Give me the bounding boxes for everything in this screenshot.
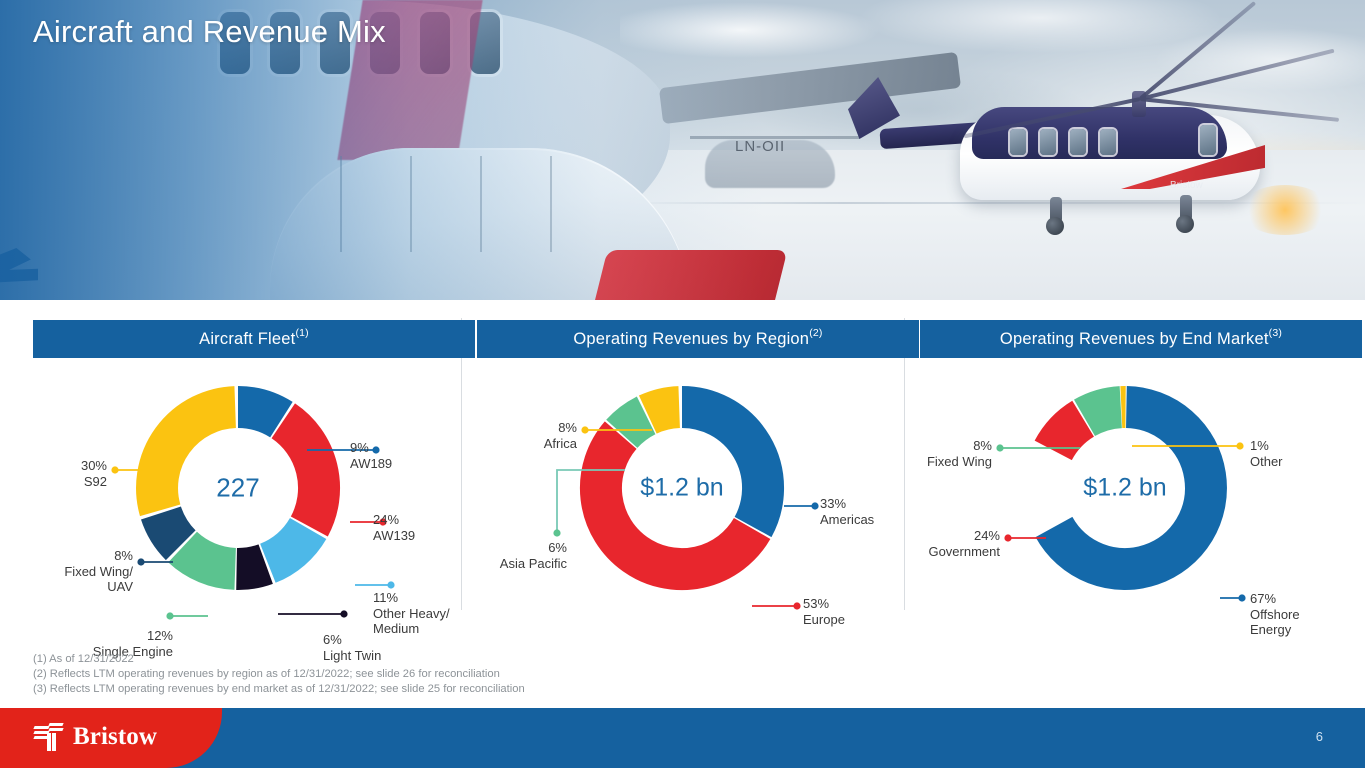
donut-center-value-end-market: $1.2 bn <box>1083 474 1166 503</box>
callout-pct: 67% <box>1250 591 1276 606</box>
panel-title-revenues-by-region: Operating Revenues by Region(2) <box>477 320 919 358</box>
callout-name: Africa <box>544 436 577 451</box>
footnote-marker: (3) <box>1269 327 1282 339</box>
callout-pct: 1% <box>1250 438 1269 453</box>
slice-government <box>1053 419 1083 451</box>
footnote-2: (2) Reflects LTM operating revenues by r… <box>33 667 525 682</box>
page-number: 6 <box>1316 729 1323 744</box>
callout-pct: 11% <box>373 590 398 605</box>
donut-center-value-region: $1.2 bn <box>640 474 723 503</box>
callout-name: Fixed Wing/ <box>64 564 133 579</box>
callout-name: Asia Pacific <box>500 556 567 571</box>
slice-aw189 <box>238 407 281 420</box>
callout-name2: UAV <box>107 579 133 594</box>
callout-pct: 24% <box>373 512 399 527</box>
callout-name: Government <box>928 544 1000 559</box>
slice-africa <box>648 407 679 415</box>
callout-other: 1% Other <box>1250 438 1283 469</box>
callout-name: AW139 <box>373 528 415 543</box>
callout-pct: 53% <box>803 596 829 611</box>
callout-aw139: 24% AW139 <box>373 512 415 543</box>
callout-fixed-wing-uav: 8% Fixed Wing/ UAV <box>0 548 133 595</box>
callout-name: Fixed Wing <box>927 454 992 469</box>
callout-name: Europe <box>803 612 845 627</box>
panel-title-text: Operating Revenues by Region <box>573 330 809 349</box>
donut-revenues-by-end-market: $1.2 bn 1% Other 8% Fixed Wing 24% Gover… <box>920 358 1362 620</box>
panel-revenues-by-end-market: Operating Revenues by End Market(3) <box>920 320 1362 620</box>
callout-s92: 30% S92 <box>11 458 107 489</box>
page-title: Aircraft and Revenue Mix <box>33 14 386 50</box>
footer-bar: Bristow 6 <box>0 708 1365 768</box>
footnote-1: (1) As of 12/31/2022 <box>33 652 525 667</box>
panel-aircraft-fleet: Aircraft Fleet(1) <box>33 320 475 620</box>
donut-aircraft-fleet: 227 9% AW189 24% AW139 11% Other Heavy/ … <box>33 358 475 620</box>
callout-pct: 9% <box>350 440 369 455</box>
callout-offshore-energy: 67% Offshore Energy <box>1250 591 1300 638</box>
slice-asia-pacific <box>622 415 646 433</box>
footnotes: (1) As of 12/31/2022 (2) Reflects LTM op… <box>33 652 525 698</box>
donut-revenues-by-region: $1.2 bn 33% Americas 53% Europe 6% Asia … <box>477 358 919 620</box>
slice-single-engine <box>183 547 236 569</box>
callout-name: Other <box>1250 454 1283 469</box>
callout-name: AW189 <box>350 456 392 471</box>
donut-center-value-fleet: 227 <box>216 473 259 504</box>
footnote-3: (3) Reflects LTM operating revenues by e… <box>33 682 525 697</box>
callout-pct: 8% <box>973 438 992 453</box>
slice-aw139 <box>283 421 319 527</box>
panel-title-text: Operating Revenues by End Market <box>1000 330 1269 349</box>
callout-pct: 6% <box>548 540 567 555</box>
callout-europe: 53% Europe <box>803 596 845 627</box>
callout-pct: 8% <box>558 420 577 435</box>
slice-americas <box>682 407 763 527</box>
callout-government: 24% Government <box>870 528 1000 559</box>
panel-title-revenues-by-end-market: Operating Revenues by End Market(3) <box>920 320 1362 358</box>
charts-row: Aircraft Fleet(1) <box>0 300 1365 630</box>
callout-pct: 12% <box>147 628 173 643</box>
callout-name: Offshore <box>1250 607 1300 622</box>
panel-revenues-by-region: Operating Revenues by Region(2) <box>477 320 919 620</box>
callout-name2: Energy <box>1250 622 1291 637</box>
callout-americas: 33% Americas <box>820 496 874 527</box>
callout-pct: 30% <box>81 458 107 473</box>
callout-pct: 6% <box>323 632 342 647</box>
panel-title-text: Aircraft Fleet <box>199 330 295 349</box>
callout-name: Other Heavy/ <box>373 606 450 621</box>
callout-pct: 33% <box>820 496 846 511</box>
hero-banner: LN-OII B <box>0 0 1365 300</box>
callout-name: S92 <box>84 474 107 489</box>
pinwheel-icon <box>34 722 64 752</box>
callout-other-heavy-medium: 11% Other Heavy/ Medium <box>373 590 450 637</box>
callout-africa: 8% Africa <box>457 420 577 451</box>
bristow-logo: Bristow <box>34 722 157 752</box>
slice-other-heavy-medium <box>268 529 308 564</box>
callout-aw189: 9% AW189 <box>350 440 392 471</box>
slice-fixed-wing-uav <box>161 513 181 545</box>
callout-pct: 8% <box>114 548 133 563</box>
callout-fixed-wing: 8% Fixed Wing <box>880 438 992 469</box>
callout-name: Americas <box>820 512 874 527</box>
panel-title-aircraft-fleet: Aircraft Fleet(1) <box>33 320 475 358</box>
slide: LN-OII B <box>0 0 1365 768</box>
footnote-marker: (2) <box>809 327 822 339</box>
slice-fixed-wing <box>1085 407 1121 418</box>
callout-asia-pacific: 6% Asia Pacific <box>437 540 567 571</box>
footnote-marker: (1) <box>295 327 308 339</box>
slice-light-twin <box>237 564 266 569</box>
bristow-wordmark: Bristow <box>73 723 157 751</box>
callout-pct: 24% <box>974 528 1000 543</box>
